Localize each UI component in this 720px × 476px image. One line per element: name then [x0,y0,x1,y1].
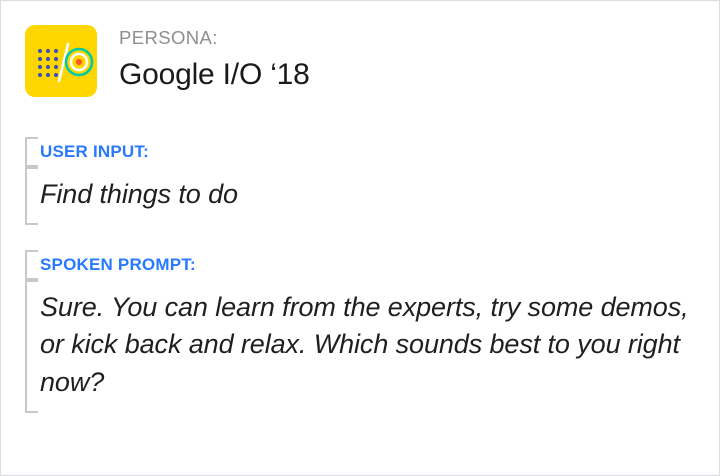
spoken-prompt-section: SPOKEN PROMPT: Sure. You can learn from … [25,250,698,413]
spoken-prompt-label: SPOKEN PROMPT: [40,256,698,273]
persona-dialogue-card: PERSONA: Google I/O ‘18 USER INPUT: Find… [0,0,720,476]
user-input-body-group: Find things to do [25,167,370,225]
bracket-marker-icon [25,137,38,167]
user-input-section: USER INPUT: Find things to do [25,137,370,225]
user-input-text: Find things to do [40,176,370,213]
spoken-prompt-label-group: SPOKEN PROMPT: [25,250,698,280]
google-io-logo-icon [25,25,97,97]
spoken-prompt-body-group: Sure. You can learn from the experts, tr… [25,280,698,413]
user-input-label: USER INPUT: [40,143,370,160]
bracket-marker-icon [25,280,38,413]
spoken-prompt-text: Sure. You can learn from the experts, tr… [40,289,698,401]
persona-header: PERSONA: Google I/O ‘18 [25,25,310,97]
bracket-marker-icon [25,167,38,225]
persona-name: Google I/O ‘18 [119,58,310,93]
user-input-label-group: USER INPUT: [25,137,370,167]
persona-label: PERSONA: [119,29,310,48]
persona-text-block: PERSONA: Google I/O ‘18 [119,25,310,92]
bracket-marker-icon [25,250,38,280]
